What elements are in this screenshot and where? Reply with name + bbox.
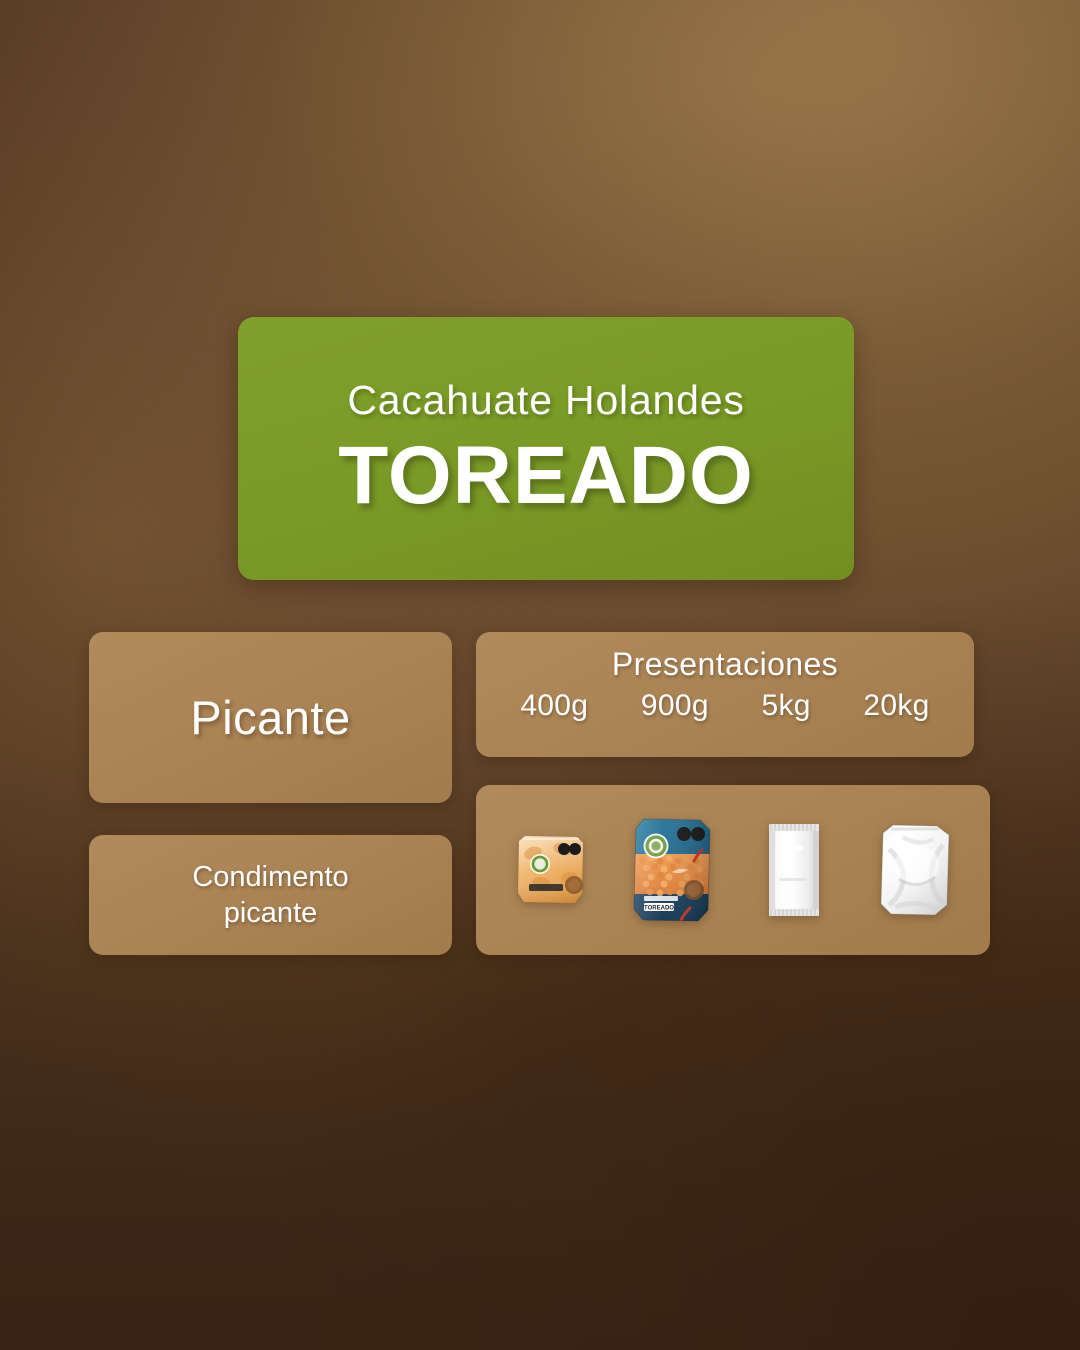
product-title: TOREADO — [338, 435, 754, 517]
flavor-card: Picante — [89, 632, 452, 803]
size-chip-900g: 900g — [641, 689, 709, 723]
seasoning-label: Condimento picante — [192, 859, 348, 932]
package-image-400g — [495, 800, 607, 940]
seasoning-card: Condimento picante — [89, 835, 452, 955]
presentations-title: Presentaciones — [612, 646, 838, 683]
seasoning-label-line2: picante — [224, 897, 318, 929]
package-900g-icon: TOREADO — [626, 816, 718, 924]
size-chip-5kg: 5kg — [761, 689, 810, 723]
flavor-label: Picante — [190, 690, 350, 745]
presentations-card: Presentaciones 400g 900g 5kg 20kg — [476, 632, 974, 757]
packages-card: TOREADO — [476, 785, 990, 955]
product-infographic: Cacahuate Holandes TOREADO Picante Condi… — [0, 0, 1080, 1350]
size-chip-400g: 400g — [520, 689, 588, 723]
product-header-card: Cacahuate Holandes TOREADO — [238, 317, 854, 580]
product-subtitle: Cacahuate Holandes — [347, 380, 744, 421]
package-5kg-icon — [761, 820, 827, 920]
package-20kg-icon — [869, 819, 961, 921]
package-image-20kg — [859, 800, 971, 940]
seasoning-label-line1: Condimento — [192, 861, 348, 893]
package-image-900g: TOREADO — [616, 800, 728, 940]
package-400g-icon — [511, 831, 591, 909]
size-chip-20kg: 20kg — [863, 689, 929, 723]
presentations-size-list: 400g 900g 5kg 20kg — [494, 689, 956, 723]
package-image-5kg — [738, 800, 850, 940]
